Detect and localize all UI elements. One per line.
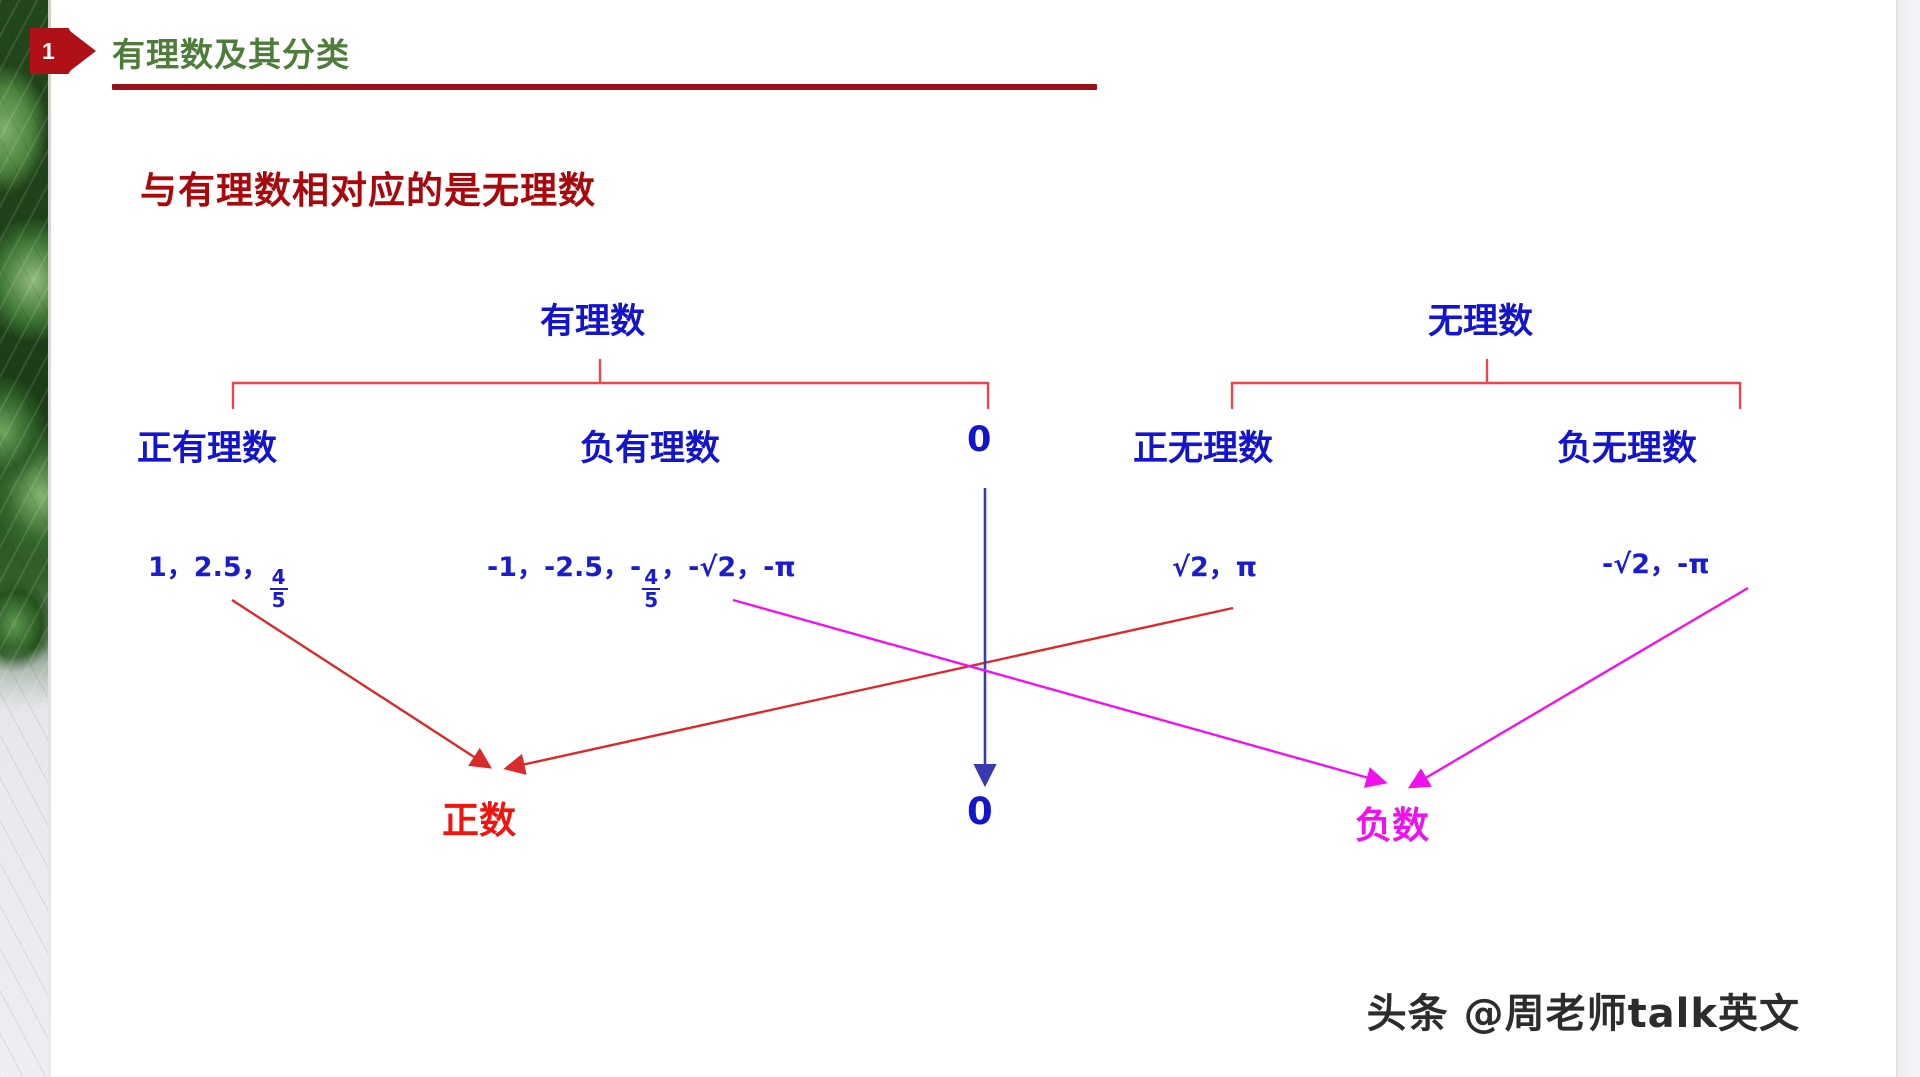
fraction-numerator: 4	[642, 567, 660, 587]
values-negative-rational-prefix: -1，-2.5，-	[487, 552, 641, 583]
watermark: 头条 @周老师talk英文	[1367, 981, 1800, 1039]
diagram-vectors	[0, 0, 1920, 1077]
values-positive-rational: 1，2.5，45	[148, 545, 289, 610]
values-positive-irrational: √2，π	[1172, 545, 1257, 584]
category-negative-rational: 负有理数	[580, 420, 720, 471]
category-positive-rational: 正有理数	[137, 420, 277, 471]
group-title-irrational: 无理数	[1428, 293, 1533, 344]
result-positive-numbers: 正数	[442, 790, 516, 844]
group-title-rational: 有理数	[540, 293, 645, 344]
fraction-denominator: 5	[270, 588, 288, 610]
category-positive-irrational: 正无理数	[1133, 420, 1273, 471]
fraction-denominator: 5	[642, 588, 660, 610]
bracket-irrational	[1232, 360, 1740, 408]
result-zero: 0	[967, 790, 993, 833]
slide-canvas: 1 有理数及其分类 与有理数相对应的是无理数	[0, 0, 1920, 1077]
values-negative-irrational: -√2，-π	[1602, 542, 1710, 581]
category-negative-irrational: 负无理数	[1557, 420, 1697, 471]
result-negative-numbers: 负数	[1355, 795, 1429, 849]
fraction-four-fifths: 45	[270, 567, 288, 610]
fraction-neg-four-fifths: 45	[642, 567, 660, 610]
values-negative-rational: -1，-2.5，-45，-√2，-π	[487, 545, 796, 610]
category-zero: 0	[967, 420, 991, 460]
arrow-to-positive-group	[232, 600, 1233, 768]
arrow-to-negative-group	[733, 588, 1748, 786]
bracket-rational	[233, 360, 988, 408]
fraction-numerator: 4	[270, 567, 288, 587]
values-positive-rational-text: 1，2.5，	[148, 552, 269, 583]
values-negative-rational-suffix: ，-√2，-π	[661, 552, 796, 583]
